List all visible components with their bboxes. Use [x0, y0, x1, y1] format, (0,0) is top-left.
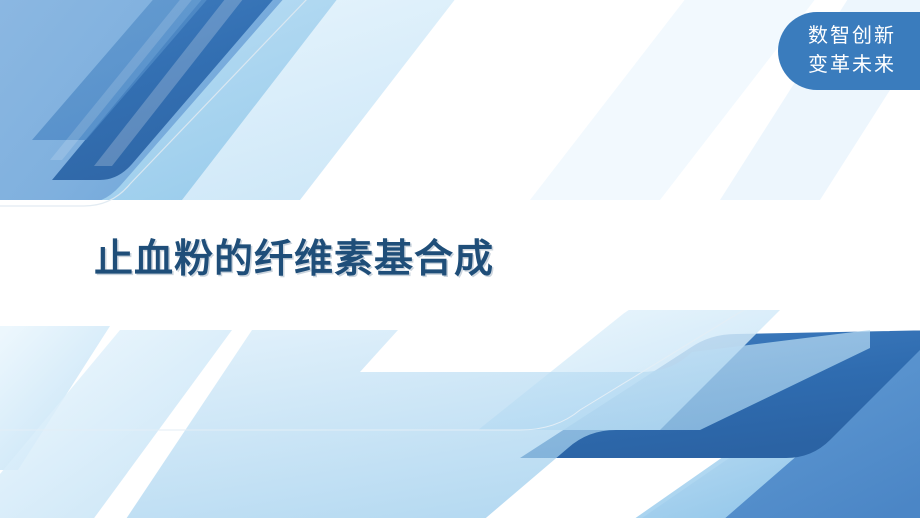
bottom-left-chevron-helper: [0, 318, 760, 470]
bottom-decoration-group: [0, 300, 920, 518]
bottom-center-pale-band: [478, 300, 790, 430]
badge-line-2: 变革未来: [808, 51, 896, 80]
bottom-right-light-band: [604, 362, 905, 518]
bottom-right-corner-triangle: [610, 350, 920, 518]
top-diagonal-band-deep: [52, 0, 290, 180]
title-block: 止血粉的纤维素基合成: [94, 228, 494, 284]
top-diagonal-band-mid: [32, 0, 224, 140]
top-band-highlight-sliver-2: [50, 0, 208, 160]
top-band-highlight-sliver: [94, 0, 258, 166]
bottom-left-light-chevron: [112, 330, 870, 518]
top-left-blue-panel: [0, 0, 300, 204]
top-decoration-group: [0, 0, 920, 204]
page-title: 止血粉的纤维素基合成: [94, 228, 494, 284]
bottom-left-pale-wedge: [0, 326, 110, 470]
badge-line-1: 数智创新: [808, 22, 896, 51]
bottom-chevron-outline: [60, 300, 920, 518]
top-diagonal-band-pale: [130, 0, 470, 200]
bottom-center-deep-parallelogram: [520, 330, 920, 458]
bottom-left-pale-chevron: [0, 330, 232, 518]
title-slide: 数智创新 变革未来 止血粉的纤维素基合成: [0, 0, 920, 518]
top-diagonal-band-light: [92, 0, 352, 200]
top-panel-edge-line: [0, 0, 308, 206]
corner-slogan-badge: 数智创新 变革未来: [778, 12, 920, 90]
bottom-edge-line-a: [0, 300, 760, 430]
